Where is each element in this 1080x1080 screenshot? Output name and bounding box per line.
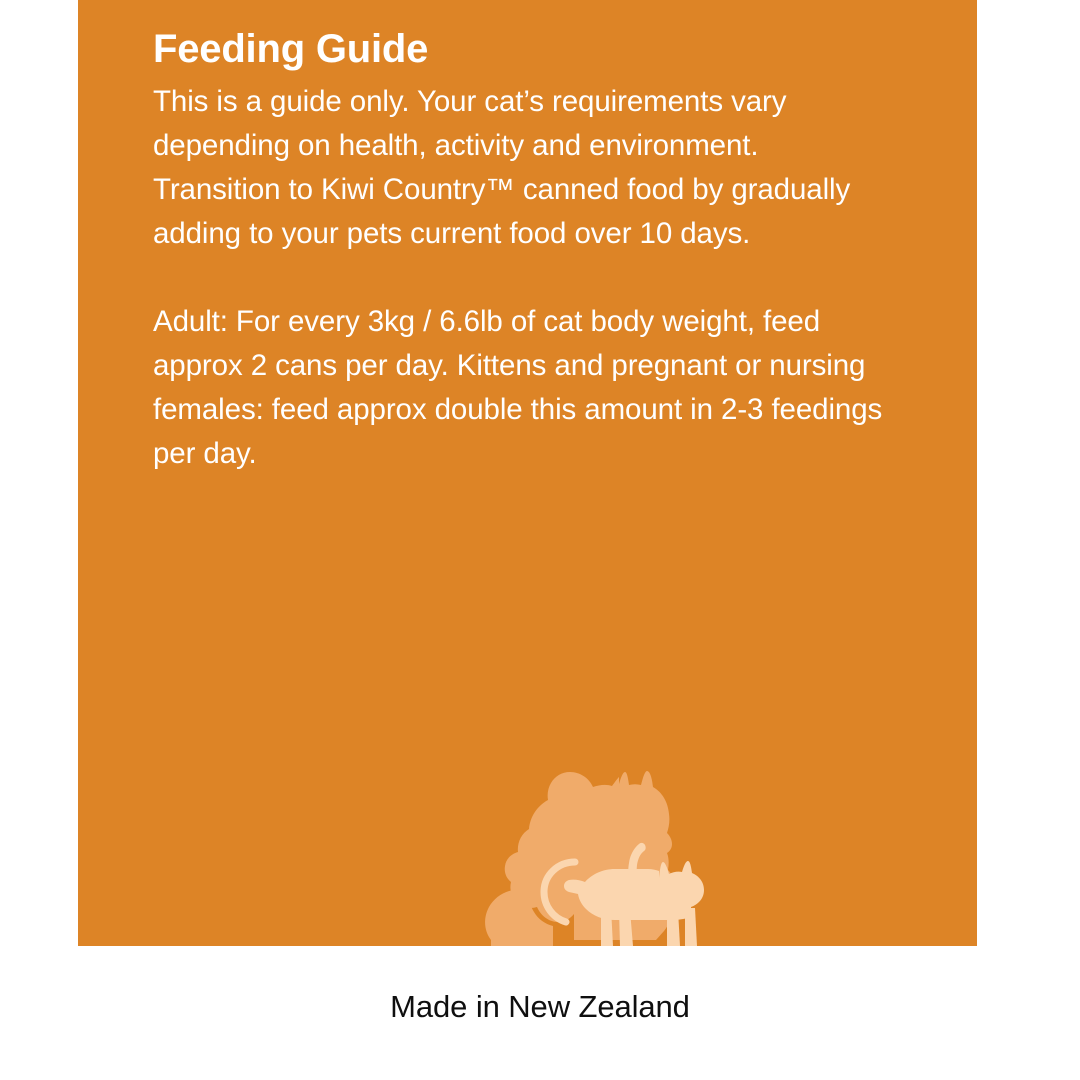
two-cats-silhouette-icon — [423, 770, 723, 946]
feeding-guide-paragraph-intro: This is a guide only. Your cat’s require… — [153, 80, 893, 256]
feeding-guide-panel: Feeding Guide This is a guide only. Your… — [78, 0, 977, 946]
paragraph-spacer — [153, 256, 893, 300]
page-title: Feeding Guide — [153, 24, 893, 74]
cat-silhouette-svg — [423, 770, 723, 946]
product-label-page: Feeding Guide This is a guide only. Your… — [0, 0, 1080, 1080]
footer: Made in New Zealand — [0, 985, 1080, 1029]
feeding-guide-paragraph-amounts: Adult: For every 3kg / 6.6lb of cat body… — [153, 300, 893, 476]
made-in-new-zealand-label: Made in New Zealand — [390, 989, 690, 1024]
feeding-guide-content: Feeding Guide This is a guide only. Your… — [153, 24, 893, 476]
